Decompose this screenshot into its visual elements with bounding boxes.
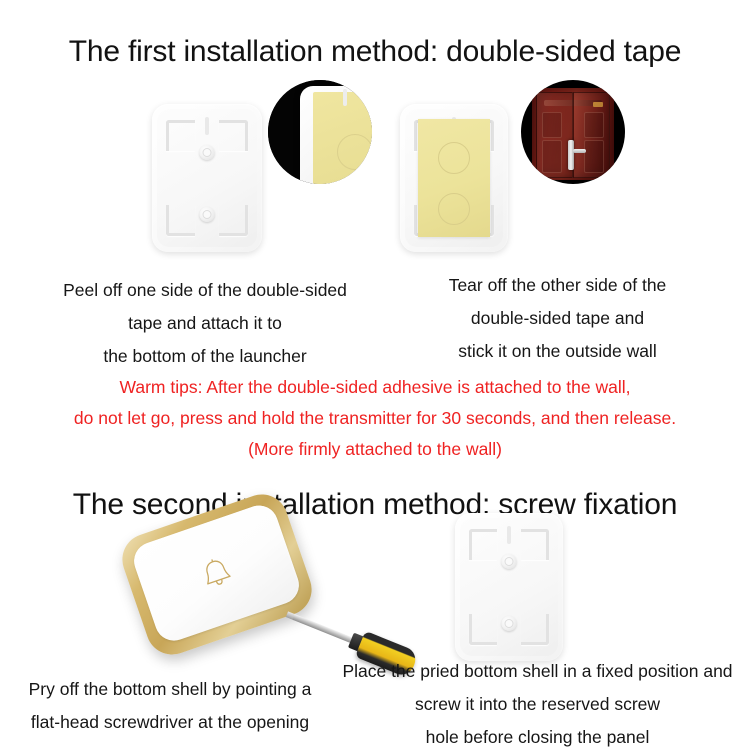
- yellow-adhesive-tape: [418, 119, 491, 238]
- bracket-plate: [460, 518, 558, 656]
- door-handle: [568, 140, 574, 170]
- caption-line: screw it into the reserved screw: [325, 688, 750, 721]
- bracket-with-tape-figure: [400, 104, 508, 252]
- bell-icon: [197, 553, 236, 593]
- screwdriver-shaft: [292, 614, 355, 644]
- warm-tips-notice: Warm tips: After the double-sided adhesi…: [0, 372, 750, 465]
- caption-line: the bottom of the launcher: [10, 340, 400, 373]
- bracket-clip-top-right: [521, 529, 549, 560]
- bracket-screw-boss-top: [502, 554, 517, 569]
- bracket-screw-boss-top: [200, 145, 215, 160]
- door-panel: [584, 112, 604, 138]
- caption-line: tape and attach it to: [10, 307, 400, 340]
- inset-notch: [343, 89, 347, 106]
- section-one-heading: The first installation method: double-si…: [0, 35, 750, 69]
- tape-screw-ring-bottom: [438, 193, 470, 225]
- bracket-clip-bottom-left: [469, 614, 497, 645]
- tape-screw-ring-top: [438, 142, 470, 174]
- caption-place-shell: Place the pried bottom shell in a fixed …: [325, 655, 750, 754]
- door-panel: [542, 140, 562, 173]
- bracket-plain-figure-1: [152, 104, 262, 252]
- inset-screw-ring: [337, 134, 372, 170]
- warm-tips-line: do not let go, press and hold the transm…: [0, 403, 750, 434]
- warm-tips-line: (More firmly attached to the wall): [0, 434, 750, 465]
- caption-line: Place the pried bottom shell in a fixed …: [325, 655, 750, 688]
- bracket-clip-top-left: [166, 120, 195, 151]
- caption-line: Peel off one side of the double-sided: [10, 274, 400, 307]
- bracket-screw-boss-bottom: [200, 207, 215, 222]
- bracket-clip-bottom-left: [166, 205, 195, 236]
- bracket-screw-boss-bottom: [502, 616, 517, 631]
- caption-line: double-sided tape and: [385, 302, 730, 335]
- bracket-plain-figure-2: [455, 513, 563, 661]
- caption-tear-off: Tear off the other side of the double-si…: [385, 269, 730, 368]
- bracket-notch: [507, 526, 511, 544]
- bracket-clip-bottom-right: [521, 614, 549, 645]
- caption-line: hole before closing the panel: [325, 721, 750, 754]
- doorbell-white-face: [129, 500, 304, 645]
- mahogany-door-photo-inset: [521, 80, 625, 184]
- warm-tips-line: Warm tips: After the double-sided adhesi…: [0, 372, 750, 403]
- caption-line: Tear off the other side of the: [385, 269, 730, 302]
- door-panel: [584, 140, 604, 173]
- caption-line: stick it on the outside wall: [385, 335, 730, 368]
- caption-line: Pry off the bottom shell by pointing a: [5, 673, 335, 706]
- caption-peel-off: Peel off one side of the double-sided ta…: [10, 274, 400, 373]
- adhesive-tape-closeup-inset: [268, 80, 372, 184]
- door-panel: [542, 112, 562, 138]
- bracket-plate: [157, 109, 257, 247]
- bracket-clip-top-right: [219, 120, 248, 151]
- bracket-notch: [205, 117, 209, 135]
- bracket-clip-top-left: [469, 529, 497, 560]
- bracket-clip-bottom-right: [219, 205, 248, 236]
- caption-pry-off: Pry off the bottom shell by pointing a f…: [5, 673, 335, 739]
- bracket-plate: [405, 109, 503, 247]
- caption-line: flat-head screwdriver at the opening: [5, 706, 335, 739]
- door-frame: [532, 88, 613, 180]
- section-two-heading: The second installation method: screw fi…: [0, 488, 750, 522]
